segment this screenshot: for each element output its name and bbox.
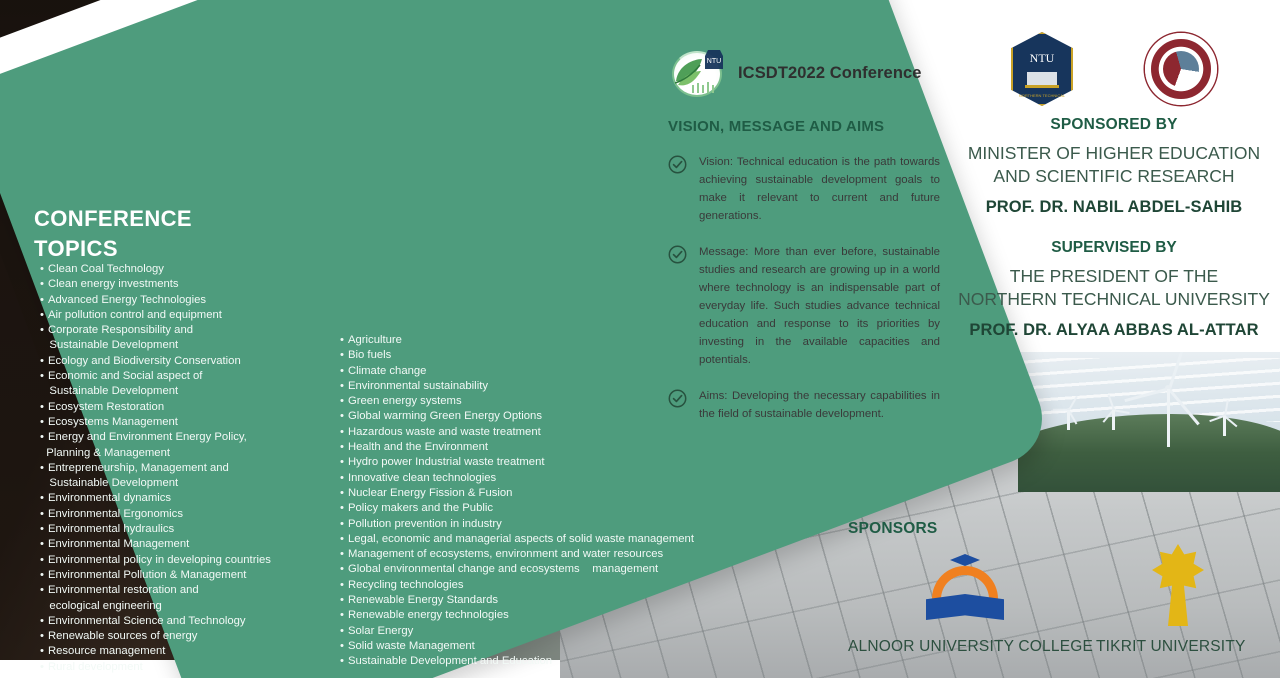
vision-bullet-text: Aims: Developing the necessary capabilit… xyxy=(699,387,940,423)
topic-label: Energy and Environment Energy Policy, Pl… xyxy=(40,431,247,458)
topic-label: Advanced Energy Technologies xyxy=(48,294,206,306)
topic-label: Health and the Environment xyxy=(348,441,488,453)
topic-list-item: •Environmental Management xyxy=(40,537,332,552)
topic-list-item: •Environmental sustainability xyxy=(340,379,722,394)
sponsor-name-alnoor: ALNOOR UNIVERSITY COLLEGE xyxy=(848,638,1093,656)
bullet-icon: • xyxy=(340,441,344,453)
bullet-icon: • xyxy=(40,431,44,443)
bullet-icon: • xyxy=(40,615,44,627)
bullet-icon: • xyxy=(340,625,344,637)
supervisor-org: THE PRESIDENT OF THE NORTHERN TECHNICAL … xyxy=(952,265,1276,311)
topic-list-item: •Environmental Pollution & Management xyxy=(40,568,332,583)
supervisor-org-line-1: THE PRESIDENT OF THE xyxy=(952,265,1276,288)
topic-label: Policy makers and the Public xyxy=(348,502,493,514)
bullet-icon: • xyxy=(40,508,44,520)
topic-label: Global environmental change and ecosyste… xyxy=(348,563,658,575)
topic-list-item: •Economic and Social aspect of Sustainab… xyxy=(40,369,332,400)
ministry-of-higher-education-logo-icon xyxy=(1145,33,1217,105)
sponsor-org: MINISTER OF HIGHER EDUCATION AND SCIENTI… xyxy=(952,142,1276,188)
topic-label: Environmental Science and Technology xyxy=(48,615,246,627)
supervised-by-label: SUPERVISED BY xyxy=(952,239,1276,257)
vision-section-heading: VISION, MESSAGE AND AIMS xyxy=(668,118,940,135)
topic-label: Clean Coal Technology xyxy=(48,263,164,275)
topic-label: Renewable energy technologies xyxy=(348,609,509,621)
topic-label: Sustainable Development and Education xyxy=(348,655,552,667)
bullet-icon: • xyxy=(340,579,344,591)
vision-bullet: Message: More than ever before, sustaina… xyxy=(668,243,940,369)
bullet-icon: • xyxy=(340,365,344,377)
topic-label: Corporate Responsibility and Sustainable… xyxy=(40,324,193,351)
bullet-icon: • xyxy=(40,294,44,306)
topic-label: Solar Energy xyxy=(348,625,413,637)
topic-label: Hydro power Industrial waste treatment xyxy=(348,456,545,468)
topic-label: Legal, economic and managerial aspects o… xyxy=(348,533,694,545)
bullet-icon: • xyxy=(40,584,44,596)
topic-list-item: •Global environmental change and ecosyst… xyxy=(340,562,722,577)
topic-list-item: •Agriculture xyxy=(340,333,722,348)
topic-list-item: •Clean Coal Technology xyxy=(40,262,332,277)
topic-label: Bio fuels xyxy=(348,349,391,361)
topic-label: Environmental policy in developing count… xyxy=(48,554,271,566)
topic-label: Environmental dynamics xyxy=(48,492,171,504)
topics-column-1: •Clean Coal Technology•Clean energy inve… xyxy=(40,262,332,675)
bullet-icon: • xyxy=(340,395,344,407)
bullet-icon: • xyxy=(340,518,344,530)
topic-list-item: •Advanced Energy Technologies xyxy=(40,293,332,308)
bullet-icon: • xyxy=(340,563,344,575)
brand-title: ICSDT2022 Conference xyxy=(738,64,922,83)
supervisor-person-name: PROF. DR. ALYAA ABBAS AL-ATTAR xyxy=(952,321,1276,340)
topic-label: Rural development xyxy=(48,661,143,673)
topic-list-item: •Ecosystems Management xyxy=(40,415,332,430)
sponsor-person-name: PROF. DR. NABIL ABDEL-SAHIB xyxy=(952,198,1276,217)
turbine-mast xyxy=(1112,410,1115,430)
bullet-icon: • xyxy=(340,380,344,392)
tikrit-university-logo-icon xyxy=(1138,544,1218,636)
topic-label: Climate change xyxy=(348,365,427,377)
topics-title-line-2: TOPICS xyxy=(34,234,192,264)
topic-list-item: •Policy makers and the Public xyxy=(340,501,722,516)
bullet-icon: • xyxy=(340,456,344,468)
alnoor-book-shape xyxy=(926,594,1004,620)
vision-bullet: Vision: Technical education is the path … xyxy=(668,153,940,225)
topic-label: Agriculture xyxy=(348,334,402,346)
topic-label: Solid waste Management xyxy=(348,640,475,652)
bullet-icon: • xyxy=(340,426,344,438)
topic-label: Entrepreneurship, Management and Sustain… xyxy=(40,462,229,489)
vision-bullets-list: Vision: Technical education is the path … xyxy=(668,153,940,423)
bullet-icon: • xyxy=(340,502,344,514)
topic-label: Nuclear Energy Fission & Fusion xyxy=(348,487,513,499)
topic-list-item: •Global warming Green Energy Options xyxy=(340,409,722,424)
topic-label: Ecosystem Restoration xyxy=(48,401,164,413)
topic-label: Environmental Pollution & Management xyxy=(48,569,246,581)
check-circle-icon xyxy=(668,245,687,369)
topic-list-item: •Environmental dynamics xyxy=(40,491,332,506)
wind-turbines-hills-photo xyxy=(1018,352,1280,492)
topic-label: Pollution prevention in industry xyxy=(348,518,502,530)
topic-label: Renewable Energy Standards xyxy=(348,594,498,606)
bullet-icon: • xyxy=(340,533,344,545)
bullet-icon: • xyxy=(40,278,44,290)
topic-label: Renewable sources of energy xyxy=(48,630,197,642)
svg-text:NORTHERN TECHNICAL: NORTHERN TECHNICAL xyxy=(1019,93,1066,98)
bullet-icon: • xyxy=(340,410,344,422)
topic-list-item: •Renewable sources of energy xyxy=(40,629,332,644)
topic-list-item: •Solid waste Management xyxy=(340,639,722,654)
topic-label: Recycling technologies xyxy=(348,579,464,591)
tikrit-stem-shape xyxy=(1168,586,1188,626)
topic-label: Hazardous waste and waste treatment xyxy=(348,426,541,438)
topic-label: Management of ecosystems, environment an… xyxy=(348,548,663,560)
northern-technical-university-logo-icon: NTU NORTHERN TECHNICAL xyxy=(1011,32,1073,106)
topic-label: Environmental Ergonomics xyxy=(48,508,183,520)
alnoor-graduation-cap-shape xyxy=(950,554,980,566)
sponsor-org-line-1: MINISTER OF HIGHER EDUCATION xyxy=(952,142,1276,165)
sponsorship-column: NTU NORTHERN TECHNICAL SPONSORED BY MINI… xyxy=(952,26,1276,340)
bullet-icon: • xyxy=(40,645,44,657)
topics-title-line-1: CONFERENCE xyxy=(34,204,192,234)
bullet-icon: • xyxy=(40,492,44,504)
topic-label: Global warming Green Energy Options xyxy=(348,410,542,422)
topic-label: Economic and Social aspect of Sustainabl… xyxy=(40,370,202,397)
topic-label: Ecology and Biodiversity Conservation xyxy=(48,355,241,367)
topic-list-item: •Recycling technologies xyxy=(340,578,722,593)
eco-leaf-circle-icon: NTU xyxy=(668,45,730,101)
bottom-sponsors-section: SPONSORS ALNOOR UNIVERSITY COLLEGE TIKRI… xyxy=(848,520,1280,664)
topic-list-item: •Ecology and Biodiversity Conservation xyxy=(40,354,332,369)
topic-list-item: •Legal, economic and managerial aspects … xyxy=(340,532,722,547)
bullet-icon: • xyxy=(40,263,44,275)
topic-list-item: •Climate change xyxy=(340,364,722,379)
bullet-icon: • xyxy=(40,630,44,642)
bullet-icon: • xyxy=(40,554,44,566)
bullet-icon: • xyxy=(40,370,44,382)
topic-list-item: •Bio fuels xyxy=(340,348,722,363)
bullet-icon: • xyxy=(340,594,344,606)
topic-list-item: •Innovative clean technologies xyxy=(340,471,722,486)
topic-list-item: •Corporate Responsibility and Sustainabl… xyxy=(40,323,332,354)
bullet-icon: • xyxy=(40,523,44,535)
topic-list-item: •Management of ecosystems, environment a… xyxy=(340,547,722,562)
bullet-icon: • xyxy=(340,487,344,499)
topic-list-item: •Solar Energy xyxy=(340,624,722,639)
bullet-icon: • xyxy=(40,355,44,367)
bullet-icon: • xyxy=(340,548,344,560)
topic-list-item: •Air pollution control and equipment xyxy=(40,308,332,323)
bottom-sponsor-logos xyxy=(848,538,1280,638)
topic-label: Air pollution control and equipment xyxy=(48,309,222,321)
sponsors-label: SPONSORS xyxy=(848,520,1280,538)
topic-label: Resource management xyxy=(48,645,165,657)
topic-list-item: •Sustainable Development and Education xyxy=(340,654,722,669)
topic-label: Innovative clean technologies xyxy=(348,472,496,484)
bullet-icon: • xyxy=(340,472,344,484)
turbine-mast xyxy=(1067,410,1070,430)
conference-topics-title: CONFERENCE TOPICS xyxy=(34,204,192,264)
bullet-icon: • xyxy=(40,416,44,428)
topic-list-item: •Environmental hydraulics xyxy=(40,522,332,537)
vision-bullet-text: Message: More than ever before, sustaina… xyxy=(699,243,940,369)
alnoor-university-college-logo-icon xyxy=(926,552,1004,634)
turbine-mast xyxy=(1167,389,1170,447)
topic-list-item: •Rural development xyxy=(40,660,332,675)
turbine-mast xyxy=(1223,416,1226,436)
bullet-icon: • xyxy=(40,661,44,673)
mohe-fan-emblem xyxy=(1163,51,1199,87)
topic-list-item: •Health and the Environment xyxy=(340,440,722,455)
topic-label: Environmental hydraulics xyxy=(48,523,174,535)
bullet-icon: • xyxy=(340,640,344,652)
supervisor-org-line-2: NORTHERN TECHNICAL UNIVERSITY xyxy=(952,288,1276,311)
conference-brochure: CONFERENCE TOPICS •Clean Coal Technology… xyxy=(0,0,1280,678)
brand-row: NTU ICSDT2022 Conference xyxy=(668,42,940,104)
topic-list-item: •Environmental restoration and ecologica… xyxy=(40,583,332,614)
topic-list-item: •Renewable Energy Standards xyxy=(340,593,722,608)
sponsor-logos-row: NTU NORTHERN TECHNICAL xyxy=(952,26,1276,112)
topic-list-item: •Environmental Ergonomics xyxy=(40,507,332,522)
topic-list-item: •Ecosystem Restoration xyxy=(40,400,332,415)
topic-label: Environmental sustainability xyxy=(348,380,488,392)
check-circle-icon xyxy=(668,155,687,225)
topic-list-item: •Nuclear Energy Fission & Fusion xyxy=(340,486,722,501)
vision-message-aims-column: NTU ICSDT2022 Conference VISION, MESSAGE… xyxy=(668,42,940,423)
bullet-icon: • xyxy=(40,309,44,321)
topic-list-item: •Hydro power Industrial waste treatment xyxy=(340,455,722,470)
sponsored-by-label: SPONSORED BY xyxy=(952,116,1276,134)
check-circle-icon xyxy=(668,389,687,423)
bullet-icon: • xyxy=(340,334,344,346)
topic-list-item: •Green energy systems xyxy=(340,394,722,409)
topic-label: Ecosystems Management xyxy=(48,416,178,428)
bullet-icon: • xyxy=(40,569,44,581)
topic-list-item: •Hazardous waste and waste treatment xyxy=(340,425,722,440)
sponsor-name-tikrit: TIKRIT UNIVERSITY xyxy=(1096,638,1246,656)
topic-list-item: •Environmental Science and Technology xyxy=(40,614,332,629)
sponsor-org-line-2: AND SCIENTIFIC RESEARCH xyxy=(952,165,1276,188)
bullet-icon: • xyxy=(340,655,344,667)
topic-list-item: •Entrepreneurship, Management and Sustai… xyxy=(40,461,332,492)
bullet-icon: • xyxy=(40,462,44,474)
topic-list-item: •Clean energy investments xyxy=(40,277,332,292)
bullet-icon: • xyxy=(340,609,344,621)
topic-list-item: •Pollution prevention in industry xyxy=(340,517,722,532)
topic-label: Green energy systems xyxy=(348,395,462,407)
topic-list-item: •Resource management xyxy=(40,644,332,659)
svg-text:NTU: NTU xyxy=(707,58,721,65)
topics-column-2: •Agriculture•Bio fuels•Climate change•En… xyxy=(340,333,722,670)
topic-list-item: •Energy and Environment Energy Policy, P… xyxy=(40,430,332,461)
bottom-sponsor-names: ALNOOR UNIVERSITY COLLEGE TIKRIT UNIVERS… xyxy=(848,638,1280,664)
svg-text:NTU: NTU xyxy=(1030,51,1055,65)
bullet-icon: • xyxy=(340,349,344,361)
bullet-icon: • xyxy=(40,538,44,550)
bullet-icon: • xyxy=(40,401,44,413)
topic-list-item: •Environmental policy in developing coun… xyxy=(40,553,332,568)
topic-label: Environmental Management xyxy=(48,538,189,550)
vision-bullet-text: Vision: Technical education is the path … xyxy=(699,153,940,225)
vision-bullet: Aims: Developing the necessary capabilit… xyxy=(668,387,940,423)
bullet-icon: • xyxy=(40,324,44,336)
topic-label: Environmental restoration and ecological… xyxy=(40,584,199,611)
topic-list-item: •Renewable energy technologies xyxy=(340,608,722,623)
topic-label: Clean energy investments xyxy=(48,278,179,290)
foreground-hill xyxy=(1018,414,1280,492)
